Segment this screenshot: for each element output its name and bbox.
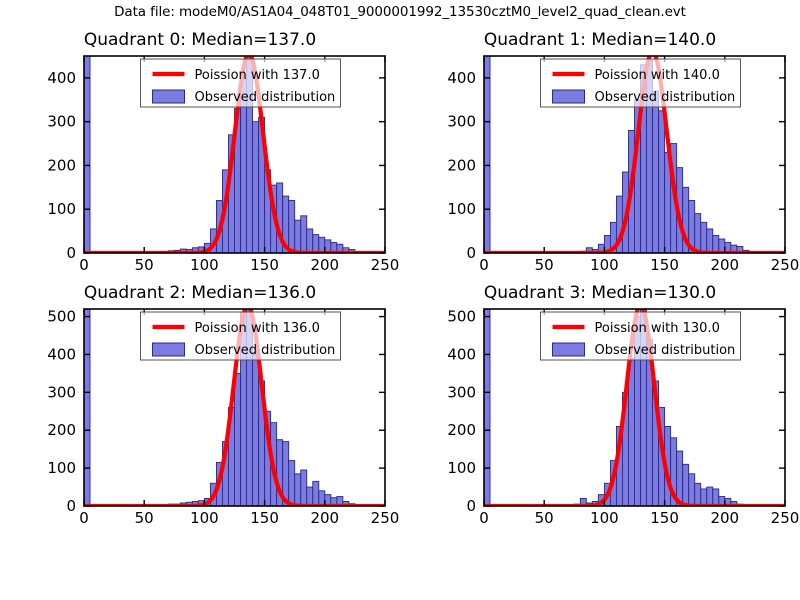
x-tick-label: 150 xyxy=(250,509,279,527)
histogram-bar xyxy=(307,229,313,253)
x-tick-label: 200 xyxy=(710,509,739,527)
legend-swatch-bars xyxy=(553,90,585,103)
legend-swatch-bars xyxy=(553,343,585,356)
x-tick-label: 250 xyxy=(771,509,800,527)
plot-area-quadrant-3: 0501001502002500100200300400500Poission … xyxy=(400,283,800,545)
legend-label-model: Poission with 136.0 xyxy=(195,321,320,336)
x-tick-label: 50 xyxy=(535,509,554,527)
legend-label-observed: Observed distribution xyxy=(195,90,336,105)
x-tick-label: 50 xyxy=(135,509,154,527)
x-tick-label: 200 xyxy=(310,509,339,527)
histogram-bar xyxy=(689,474,695,506)
histogram-bar xyxy=(319,237,325,253)
x-tick-label: 250 xyxy=(371,256,400,274)
legend-label-model: Poission with 137.0 xyxy=(195,68,320,83)
x-tick-label: 200 xyxy=(310,256,339,274)
histogram-bar xyxy=(301,216,307,253)
legend-label-model: Poission with 140.0 xyxy=(595,68,720,83)
histogram-bar xyxy=(313,235,319,253)
y-tick-label: 0 xyxy=(466,244,476,262)
y-tick-label: 400 xyxy=(47,345,76,363)
y-tick-label: 0 xyxy=(66,244,76,262)
histogram-bar xyxy=(484,56,490,253)
figure-suptitle: Data file: modeM0/AS1A04_048T01_90000019… xyxy=(0,4,800,20)
histogram-bar xyxy=(289,461,295,506)
histogram-bar xyxy=(683,464,689,506)
figure-canvas: Data file: modeM0/AS1A04_048T01_90000019… xyxy=(0,0,800,600)
x-tick-label: 0 xyxy=(79,509,89,527)
x-tick-label: 250 xyxy=(771,256,800,274)
y-tick-label: 400 xyxy=(447,345,476,363)
y-tick-label: 100 xyxy=(447,200,476,218)
x-tick-label: 100 xyxy=(190,509,219,527)
histogram-bar xyxy=(289,200,295,253)
x-tick-label: 100 xyxy=(590,509,619,527)
y-tick-label: 200 xyxy=(47,421,76,439)
subplot-quadrant-1: Quadrant 1: Median=140.0 050100150200250… xyxy=(400,30,800,300)
histogram-bar xyxy=(653,91,659,253)
legend[interactable]: Poission with 130.0Observed distribution xyxy=(541,312,741,360)
x-tick-label: 200 xyxy=(710,256,739,274)
histogram-bar xyxy=(84,309,90,506)
histogram-bar xyxy=(307,487,313,506)
histogram-bar xyxy=(695,483,701,506)
subplot-title: Quadrant 1: Median=140.0 xyxy=(400,30,800,50)
histogram-bar xyxy=(313,481,319,506)
histogram-bar xyxy=(713,489,719,506)
histogram-bar xyxy=(701,222,707,253)
subplot-title: Quadrant 3: Median=130.0 xyxy=(400,283,800,303)
histogram-bar xyxy=(301,470,307,506)
subplot-quadrant-2: Quadrant 2: Median=136.0 050100150200250… xyxy=(0,283,400,573)
x-tick-label: 100 xyxy=(190,256,219,274)
histogram-bar xyxy=(295,474,301,506)
y-tick-label: 0 xyxy=(466,497,476,515)
histogram-bar xyxy=(628,358,634,506)
histogram-bar xyxy=(253,354,259,506)
legend[interactable]: Poission with 136.0Observed distribution xyxy=(141,312,341,360)
y-tick-label: 400 xyxy=(447,69,476,87)
x-tick-label: 0 xyxy=(79,256,89,274)
legend-label-model: Poission with 130.0 xyxy=(595,321,720,336)
legend-label-observed: Observed distribution xyxy=(595,343,736,358)
y-tick-label: 100 xyxy=(47,459,76,477)
x-tick-label: 0 xyxy=(479,256,489,274)
subplot-title: Quadrant 2: Median=136.0 xyxy=(0,283,400,303)
histogram-bar xyxy=(695,214,701,253)
x-tick-label: 0 xyxy=(479,509,489,527)
subplot-quadrant-3: Quadrant 3: Median=130.0 050100150200250… xyxy=(400,283,800,573)
legend-swatch-bars xyxy=(153,343,185,356)
histogram-bar xyxy=(719,239,725,253)
subplot-quadrant-0: Quadrant 0: Median=137.0 050100150200250… xyxy=(0,30,400,300)
y-tick-label: 100 xyxy=(447,459,476,477)
plot-area-quadrant-2: 0501001502002500100200300400500Poission … xyxy=(0,283,400,545)
x-tick-label: 250 xyxy=(371,509,400,527)
x-tick-label: 50 xyxy=(535,256,554,274)
subplot-title: Quadrant 0: Median=137.0 xyxy=(0,30,400,50)
histogram-bar xyxy=(484,309,490,506)
x-tick-label: 100 xyxy=(590,256,619,274)
y-tick-label: 0 xyxy=(66,497,76,515)
legend-label-observed: Observed distribution xyxy=(595,90,736,105)
y-tick-label: 300 xyxy=(447,383,476,401)
y-tick-label: 300 xyxy=(447,113,476,131)
x-tick-label: 50 xyxy=(135,256,154,274)
histogram-bar xyxy=(235,373,241,506)
histogram-bar xyxy=(701,489,707,506)
y-tick-label: 400 xyxy=(47,69,76,87)
y-tick-label: 500 xyxy=(447,308,476,326)
histogram-bar xyxy=(295,220,301,253)
y-tick-label: 200 xyxy=(47,156,76,174)
y-tick-label: 200 xyxy=(447,156,476,174)
histogram-bar xyxy=(713,235,719,253)
y-tick-label: 200 xyxy=(447,421,476,439)
plot-area-quadrant-0: 0501001502002500100200300400Poission wit… xyxy=(0,30,400,280)
legend[interactable]: Poission with 137.0Observed distribution xyxy=(141,59,341,107)
plot-area-quadrant-1: 0501001502002500100200300400Poission wit… xyxy=(400,30,800,280)
legend[interactable]: Poission with 140.0Observed distribution xyxy=(541,59,741,107)
legend-swatch-bars xyxy=(153,90,185,103)
histogram-bar xyxy=(659,111,665,253)
x-tick-label: 150 xyxy=(650,509,679,527)
y-tick-label: 300 xyxy=(47,383,76,401)
histogram-bar xyxy=(253,122,259,253)
y-tick-label: 500 xyxy=(47,308,76,326)
x-tick-label: 150 xyxy=(250,256,279,274)
y-tick-label: 100 xyxy=(47,200,76,218)
histogram-bar xyxy=(84,56,90,253)
y-tick-label: 300 xyxy=(47,113,76,131)
histogram-bar xyxy=(707,229,713,253)
histogram-bar xyxy=(319,491,325,506)
legend-label-observed: Observed distribution xyxy=(195,343,336,358)
x-tick-label: 150 xyxy=(650,256,679,274)
histogram-bar xyxy=(707,487,713,506)
